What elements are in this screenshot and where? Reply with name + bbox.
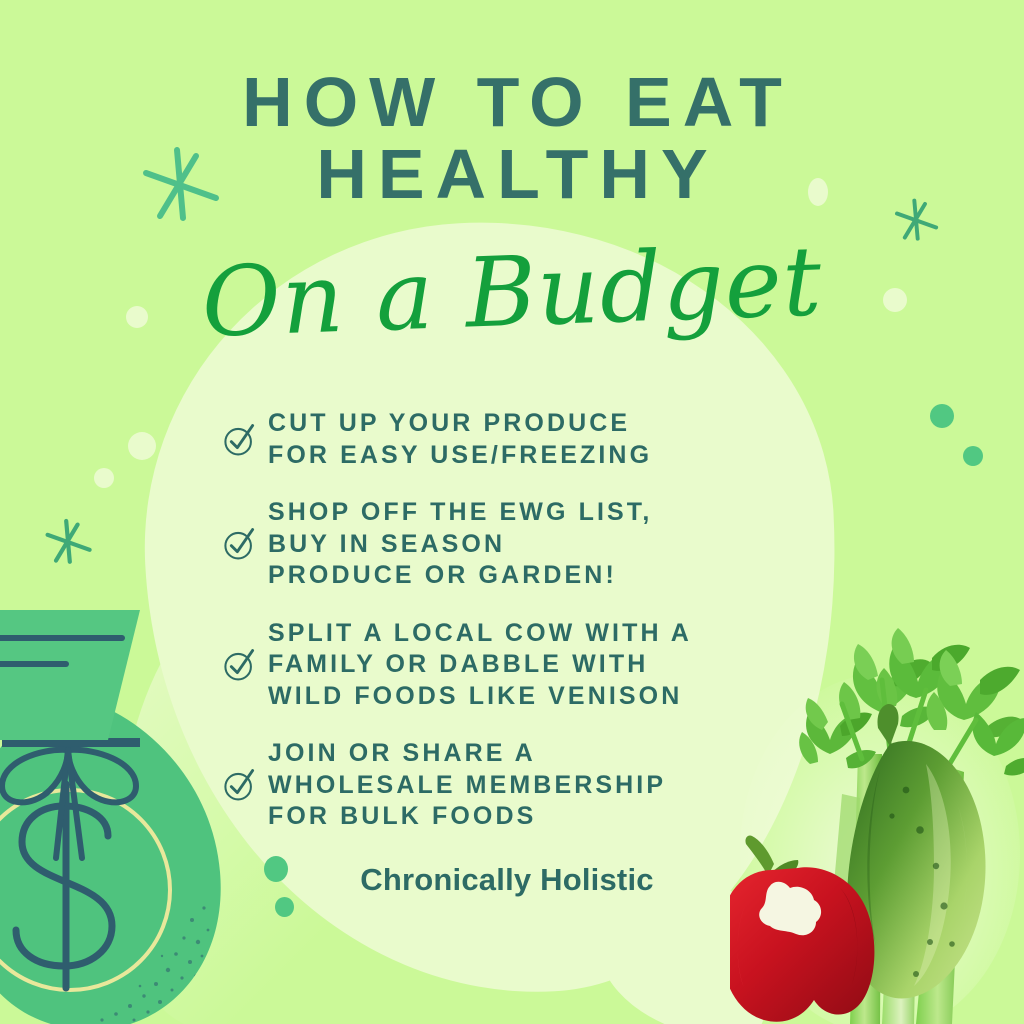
check-circle-icon — [222, 527, 256, 561]
list-item-text: SPLIT A LOCAL COW WITH A FAMILY OR DABBL… — [268, 618, 692, 713]
list-item-text: SHOP OFF THE EWG LIST, BUY IN SEASON PRO… — [268, 497, 652, 592]
page-title: HOW TO EAT HEALTHY — [0, 66, 1024, 210]
list-item: JOIN OR SHARE A WHOLESALE MEMBERSHIP FOR… — [222, 738, 792, 833]
list-item-text: CUT UP YOUR PRODUCE FOR EASY USE/FREEZIN… — [268, 408, 652, 471]
list-item: SPLIT A LOCAL COW WITH A FAMILY OR DABBL… — [222, 618, 792, 713]
page-subtitle: On a Budget — [0, 226, 1024, 358]
list-item: CUT UP YOUR PRODUCE FOR EASY USE/FREEZIN… — [222, 408, 792, 471]
check-circle-icon — [222, 768, 256, 802]
list-item-text: JOIN OR SHARE A WHOLESALE MEMBERSHIP FOR… — [268, 738, 666, 833]
list-item: SHOP OFF THE EWG LIST, BUY IN SEASON PRO… — [222, 497, 792, 592]
brand-signature: Chronically Holistic — [222, 862, 792, 898]
poster-canvas: HOW TO EAT HEALTHY On a Budget CUT UP YO… — [0, 0, 1024, 1024]
tips-list: CUT UP YOUR PRODUCE FOR EASY USE/FREEZIN… — [222, 408, 792, 859]
check-circle-icon — [222, 423, 256, 457]
check-circle-icon — [222, 648, 256, 682]
title-line-2: HEALTHY — [0, 138, 1024, 210]
title-line-1: HOW TO EAT — [0, 66, 1024, 138]
foreground-content: HOW TO EAT HEALTHY On a Budget CUT UP YO… — [0, 0, 1024, 1024]
